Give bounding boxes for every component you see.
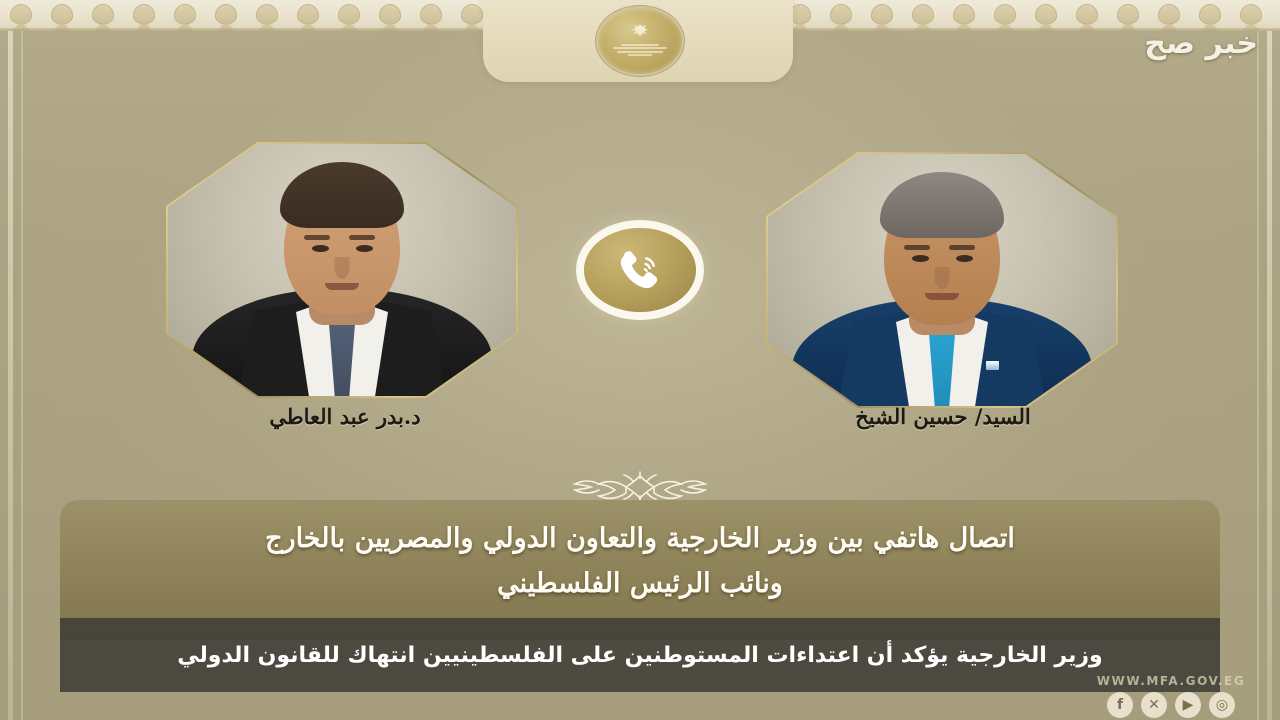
- news-card: خبر صح د.بدر عبد العاطي: [0, 0, 1280, 720]
- ornament-motif: [902, 0, 943, 31]
- twitter-icon[interactable]: ✕: [1141, 692, 1167, 718]
- right-border-stripe-inner: [1257, 30, 1259, 720]
- eagle-icon: [632, 24, 649, 40]
- octagon-inner-left: [168, 144, 516, 396]
- caption-text: وزير الخارجية يؤكد أن اعتداءات المستوطني…: [157, 643, 1122, 668]
- ornament-motif: [1271, 0, 1280, 31]
- ornament-motif: [369, 0, 410, 31]
- egypt-mfa-seal-icon: [598, 8, 682, 74]
- ornament-motif: [0, 0, 41, 31]
- portrait-frame-left: [166, 142, 518, 398]
- youtube-icon[interactable]: ▶: [1175, 692, 1201, 718]
- person-name-left: د.بدر عبد العاطي: [135, 404, 555, 429]
- phone-call-icon: [584, 228, 696, 312]
- ornament-motif: [287, 0, 328, 31]
- ornament-motif: [984, 0, 1025, 31]
- ornament-motif: [861, 0, 902, 31]
- ornament-motif: [123, 0, 164, 31]
- watermark-text: خبر صح: [1144, 26, 1258, 61]
- social-links: f✕▶◎: [1080, 692, 1262, 718]
- portrait-photo-right: [768, 154, 1116, 406]
- left-border-stripe: [8, 30, 13, 720]
- ornament-motif: [820, 0, 861, 31]
- ornament-motif: [943, 0, 984, 31]
- caption-bar: وزير الخارجية يؤكد أن اعتداءات المستوطني…: [60, 618, 1220, 692]
- facebook-icon[interactable]: f: [1107, 692, 1133, 718]
- left-border-stripe-inner: [21, 30, 23, 720]
- portrait-photo-left: [168, 144, 516, 396]
- ornament-motif: [410, 0, 451, 31]
- ornament-motif: [1025, 0, 1066, 31]
- ornament-motif: [41, 0, 82, 31]
- footer: WWW.MFA.GOV.EG f✕▶◎: [1080, 674, 1262, 718]
- ornament-motif: [82, 0, 123, 31]
- ornament-motif: [1107, 0, 1148, 31]
- ornament-motif: [1066, 0, 1107, 31]
- person-name-right: السيد/ حسين الشيخ: [733, 404, 1153, 429]
- headline-line-1: اتصال هاتفي بين وزير الخارجية والتعاون ا…: [60, 516, 1220, 561]
- ornament-motif: [205, 0, 246, 31]
- headline-line-2: ونائب الرئيس الفلسطيني: [60, 561, 1220, 606]
- ornament-motif: [164, 0, 205, 31]
- octagon-inner-right: [768, 154, 1116, 406]
- instagram-icon[interactable]: ◎: [1209, 692, 1235, 718]
- ornament-motif: [328, 0, 369, 31]
- website-url: WWW.MFA.GOV.EG: [1080, 674, 1262, 688]
- seal-text-lines: [613, 42, 667, 58]
- right-border-stripe: [1267, 30, 1272, 720]
- portrait-frame-right: [766, 152, 1118, 408]
- ornament-motif: [246, 0, 287, 31]
